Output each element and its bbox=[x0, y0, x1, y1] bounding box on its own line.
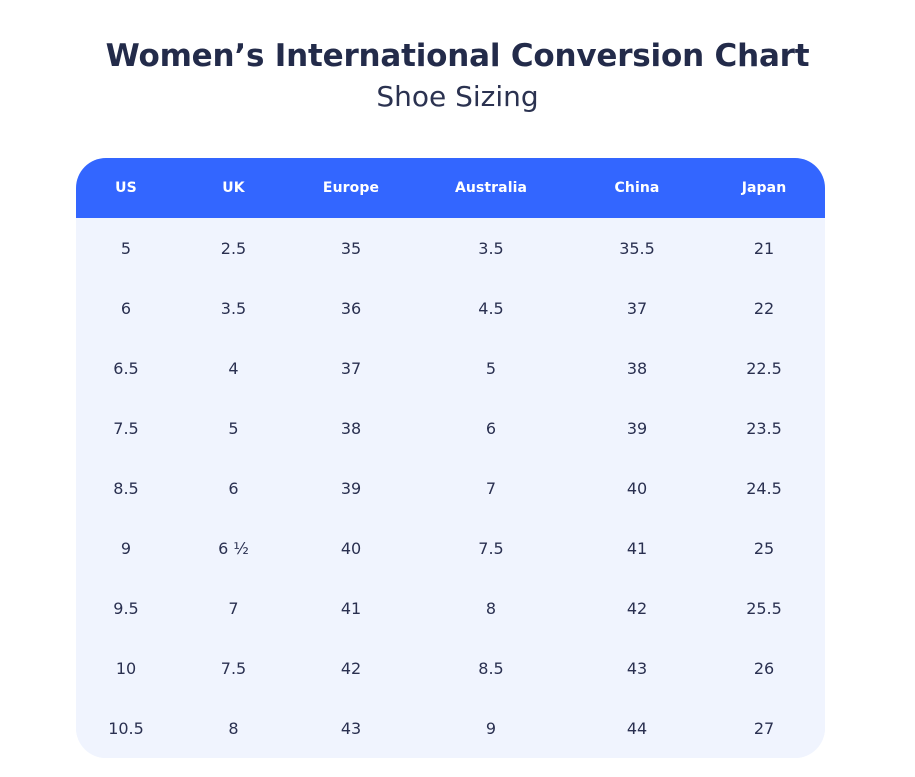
cell-japan: 24.5 bbox=[703, 458, 825, 518]
cell-australia: 7 bbox=[411, 458, 571, 518]
cell-australia: 5 bbox=[411, 338, 571, 398]
cell-us: 7.5 bbox=[76, 398, 176, 458]
cell-japan: 27 bbox=[703, 698, 825, 758]
cell-uk: 3.5 bbox=[176, 278, 291, 338]
heading-block: Women’s International Conversion Chart S… bbox=[0, 34, 915, 116]
cell-uk: 8 bbox=[176, 698, 291, 758]
cell-europe: 35 bbox=[291, 218, 411, 278]
column-header-australia: Australia bbox=[411, 158, 571, 218]
page-title: Women’s International Conversion Chart bbox=[0, 34, 915, 78]
table-row: 7.5 5 38 6 39 23.5 bbox=[76, 398, 825, 458]
table-row: 9 6 ½ 40 7.5 41 25 bbox=[76, 518, 825, 578]
column-header-europe: Europe bbox=[291, 158, 411, 218]
cell-australia: 8 bbox=[411, 578, 571, 638]
cell-japan: 22 bbox=[703, 278, 825, 338]
cell-uk: 4 bbox=[176, 338, 291, 398]
cell-japan: 23.5 bbox=[703, 398, 825, 458]
size-conversion-table: US UK Europe Australia China Japan 5 2.5… bbox=[76, 158, 825, 758]
cell-japan: 22.5 bbox=[703, 338, 825, 398]
cell-china: 43 bbox=[571, 638, 703, 698]
table-header-row: US UK Europe Australia China Japan bbox=[76, 158, 825, 218]
cell-china: 42 bbox=[571, 578, 703, 638]
cell-uk: 6 ½ bbox=[176, 518, 291, 578]
table-row: 9.5 7 41 8 42 25.5 bbox=[76, 578, 825, 638]
cell-australia: 9 bbox=[411, 698, 571, 758]
cell-us: 9.5 bbox=[76, 578, 176, 638]
cell-europe: 43 bbox=[291, 698, 411, 758]
cell-australia: 8.5 bbox=[411, 638, 571, 698]
column-header-china: China bbox=[571, 158, 703, 218]
cell-us: 9 bbox=[76, 518, 176, 578]
cell-uk: 2.5 bbox=[176, 218, 291, 278]
cell-australia: 7.5 bbox=[411, 518, 571, 578]
cell-us: 6.5 bbox=[76, 338, 176, 398]
cell-us: 6 bbox=[76, 278, 176, 338]
table-body: 5 2.5 35 3.5 35.5 21 6 3.5 36 4.5 37 22 … bbox=[76, 218, 825, 758]
cell-china: 39 bbox=[571, 398, 703, 458]
column-header-us: US bbox=[76, 158, 176, 218]
cell-europe: 38 bbox=[291, 398, 411, 458]
table-row: 5 2.5 35 3.5 35.5 21 bbox=[76, 218, 825, 278]
cell-japan: 26 bbox=[703, 638, 825, 698]
cell-uk: 5 bbox=[176, 398, 291, 458]
table-row: 6 3.5 36 4.5 37 22 bbox=[76, 278, 825, 338]
cell-australia: 3.5 bbox=[411, 218, 571, 278]
cell-europe: 36 bbox=[291, 278, 411, 338]
cell-australia: 6 bbox=[411, 398, 571, 458]
table-header: US UK Europe Australia China Japan bbox=[76, 158, 825, 218]
table-row: 8.5 6 39 7 40 24.5 bbox=[76, 458, 825, 518]
cell-uk: 7.5 bbox=[176, 638, 291, 698]
cell-europe: 37 bbox=[291, 338, 411, 398]
cell-us: 5 bbox=[76, 218, 176, 278]
cell-europe: 39 bbox=[291, 458, 411, 518]
column-header-uk: UK bbox=[176, 158, 291, 218]
cell-europe: 40 bbox=[291, 518, 411, 578]
table-row: 10 7.5 42 8.5 43 26 bbox=[76, 638, 825, 698]
conversion-chart-page: Women’s International Conversion Chart S… bbox=[0, 0, 915, 777]
cell-china: 37 bbox=[571, 278, 703, 338]
cell-uk: 7 bbox=[176, 578, 291, 638]
cell-japan: 21 bbox=[703, 218, 825, 278]
cell-us: 10.5 bbox=[76, 698, 176, 758]
cell-china: 40 bbox=[571, 458, 703, 518]
cell-china: 41 bbox=[571, 518, 703, 578]
cell-japan: 25 bbox=[703, 518, 825, 578]
table-row: 10.5 8 43 9 44 27 bbox=[76, 698, 825, 758]
table-row: 6.5 4 37 5 38 22.5 bbox=[76, 338, 825, 398]
cell-japan: 25.5 bbox=[703, 578, 825, 638]
page-subtitle: Shoe Sizing bbox=[0, 78, 915, 116]
cell-china: 38 bbox=[571, 338, 703, 398]
column-header-japan: Japan bbox=[703, 158, 825, 218]
cell-australia: 4.5 bbox=[411, 278, 571, 338]
cell-uk: 6 bbox=[176, 458, 291, 518]
cell-europe: 41 bbox=[291, 578, 411, 638]
cell-us: 8.5 bbox=[76, 458, 176, 518]
cell-china: 35.5 bbox=[571, 218, 703, 278]
cell-china: 44 bbox=[571, 698, 703, 758]
size-conversion-table-card: US UK Europe Australia China Japan 5 2.5… bbox=[76, 158, 825, 758]
cell-europe: 42 bbox=[291, 638, 411, 698]
cell-us: 10 bbox=[76, 638, 176, 698]
